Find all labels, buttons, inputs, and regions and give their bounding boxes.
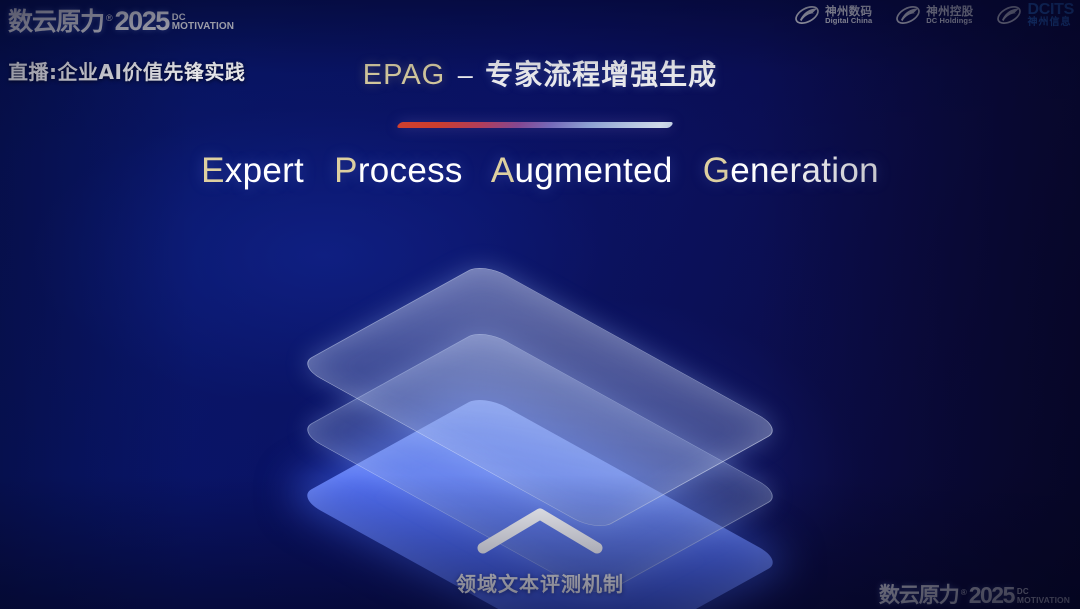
watermark-logo: 数云原力 ® 2025 DC MOTIVATION [879, 583, 1070, 606]
partner-brand-dcits: DCITS [1027, 2, 1074, 18]
english-subtitle: Expert Process Augmented Generation [0, 151, 1080, 191]
partner-name-en: DC Holdings [926, 17, 973, 25]
watermark-chinese: 数云原力 [879, 585, 959, 606]
watermark-tagline-motivation: MOTIVATION [1017, 596, 1070, 605]
stack-layer-top [375, 232, 705, 562]
swoosh-icon [995, 2, 1023, 28]
brand-logo: 数云原力 ® 2025 DC MOTIVATION [8, 7, 234, 34]
partner-logo-dcits: DCITS 神州信息 [995, 2, 1074, 29]
subtitle-word-process: Process [334, 151, 463, 190]
title-acronym: EPAG [363, 59, 445, 91]
swoosh-icon [894, 2, 922, 28]
watermark-year: 2025 [969, 584, 1014, 607]
subtitle-word-generation: Generation [703, 151, 879, 190]
partner-logo-dc-holdings: 神州控股 DC Holdings [894, 2, 973, 28]
title-chinese: 专家流程增强生成 [485, 58, 717, 91]
partner-logo-digital-china: 神州数码 Digital China [793, 2, 872, 28]
subtitle-word-augmented: Augmented [491, 151, 673, 190]
partner-logo-group: 神州数码 Digital China 神州控股 DC Holdings DCIT… [793, 2, 1074, 29]
watermark-registered-mark: ® [961, 588, 967, 597]
subtitle-word-expert: Expert [201, 151, 304, 190]
presentation-slide: 数云原力 ® 2025 DC MOTIVATION 直播:企业AI价值先锋实践 … [0, 0, 1080, 609]
brand-logo-chinese: 数云原力 [8, 9, 104, 34]
brand-logo-tagline: DC MOTIVATION [172, 13, 234, 33]
stack-label-top: 领域文本评测机制 [456, 568, 624, 597]
watermark-tagline: DC MOTIVATION [1017, 588, 1070, 605]
registered-mark: ® [106, 13, 113, 23]
layered-stack-diagram: 领域文本评测机制 Dynamic MOE 长文本记忆 三类语义建模模块 [270, 232, 810, 582]
brand-logo-year: 2025 [115, 8, 169, 35]
title-dash: – [450, 60, 481, 90]
swoosh-icon [793, 2, 821, 28]
gradient-divider [396, 122, 674, 128]
page-title: EPAG – 专家流程增强生成 [0, 53, 1080, 93]
partner-name-en: Digital China [825, 17, 872, 25]
brand-tagline-motivation: MOTIVATION [172, 22, 234, 32]
partner-name-cn: 神州信息 [1027, 18, 1074, 29]
